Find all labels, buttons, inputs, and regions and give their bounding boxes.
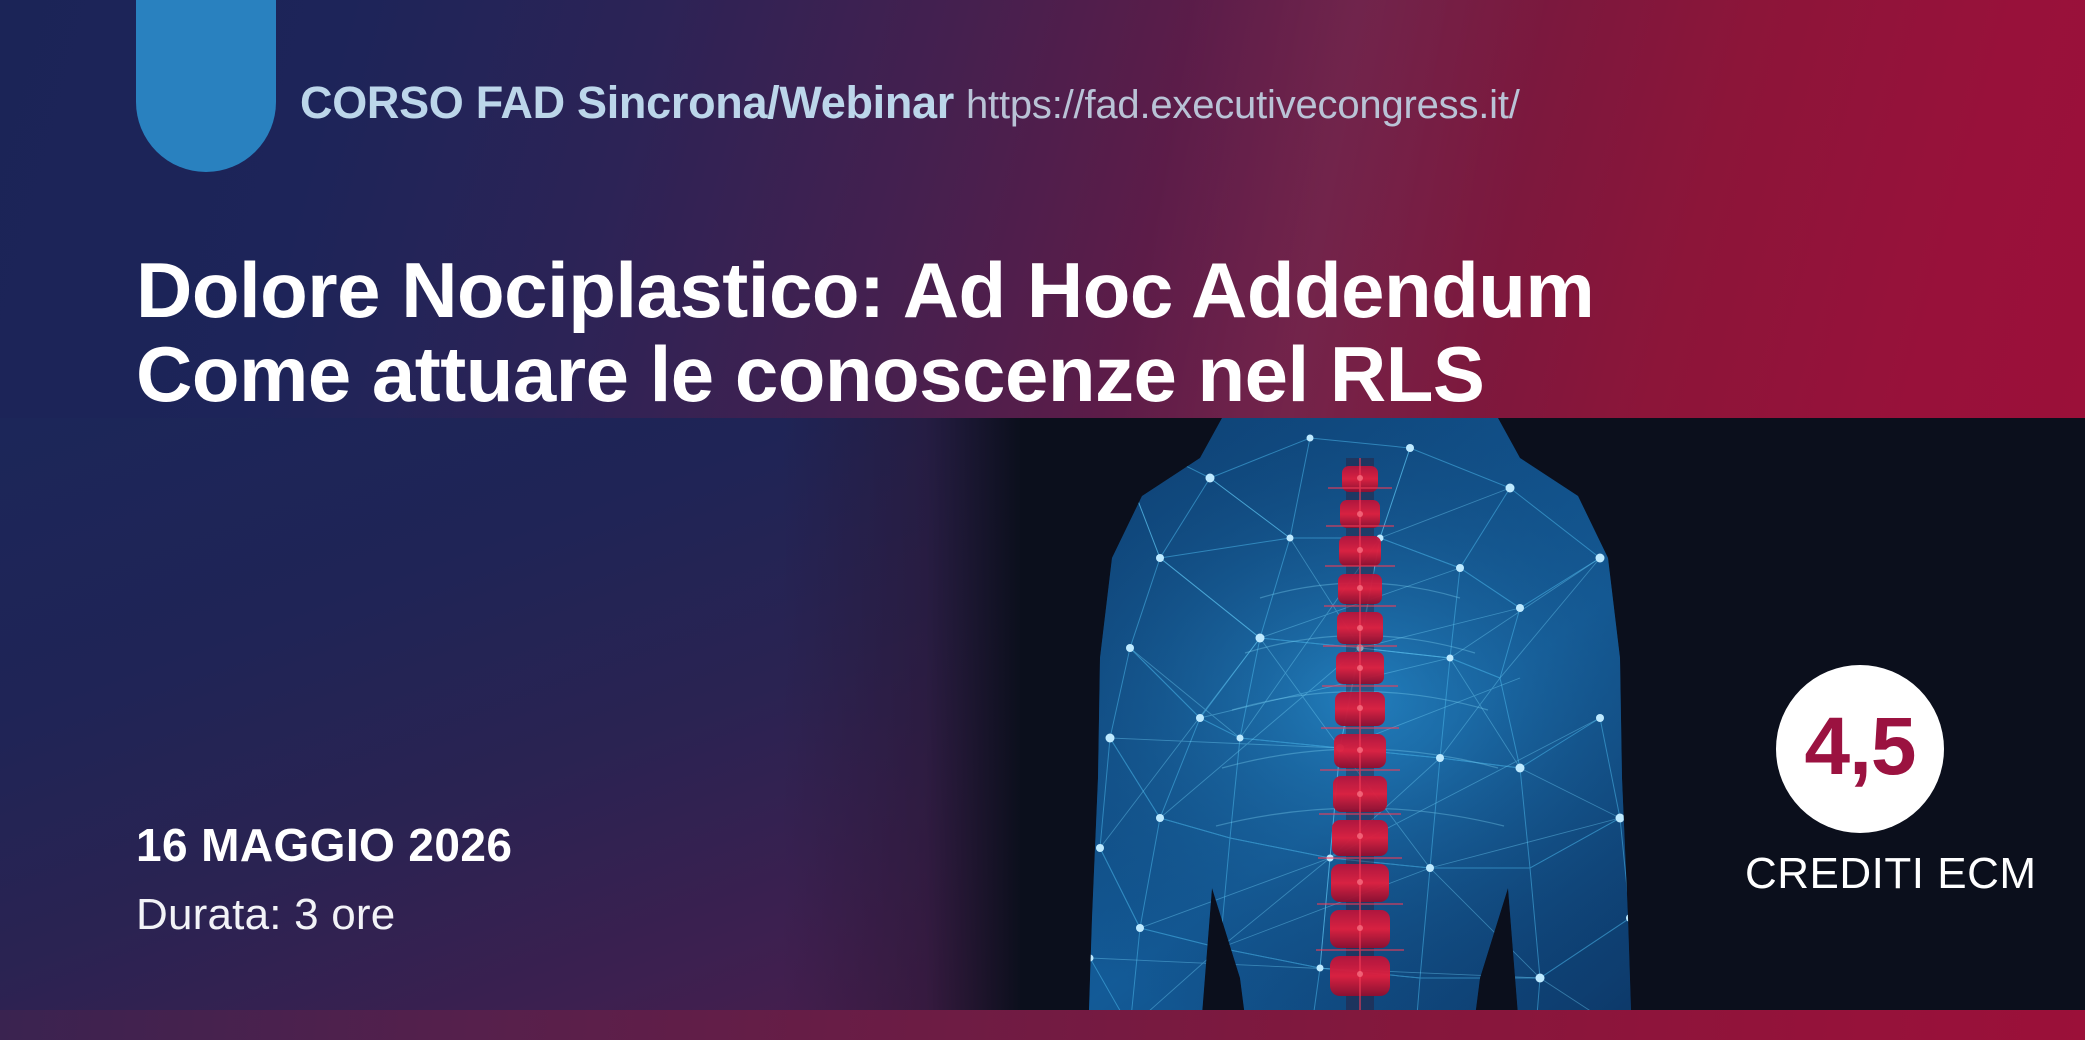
- event-date: 16 MAGGIO 2026: [136, 820, 512, 871]
- course-url-link[interactable]: https://fad.executivecongress.it/: [966, 83, 1520, 127]
- ecm-credits-label: CREDITI ECM: [1745, 849, 1975, 899]
- page-title-line-2: Come attuare le conoscenze nel RLS: [136, 332, 1696, 416]
- wireframe-torso-spine-illustration: [960, 418, 1760, 1040]
- ecm-credits-circle: 4,5: [1776, 665, 1944, 833]
- ecm-credits-badge: 4,5 CREDITI ECM: [1745, 665, 1975, 899]
- event-date-block: 16 MAGGIO 2026 Durata: 3 ore: [136, 820, 512, 939]
- page-title: Dolore Nociplastico: Ad Hoc Addendum Com…: [136, 248, 1696, 416]
- ecm-credits-value: 4,5: [1805, 706, 1916, 788]
- footer-accent-strip: [0, 1010, 2085, 1040]
- content-left-gradient: [0, 418, 1020, 1040]
- kicker-line: CORSO FAD Sincrona/Webinarhttps://fad.ex…: [300, 80, 1520, 125]
- course-type-label: CORSO FAD Sincrona/Webinar: [300, 77, 954, 128]
- event-duration: Durata: 3 ore: [136, 891, 512, 939]
- page-title-line-1: Dolore Nociplastico: Ad Hoc Addendum: [136, 248, 1696, 332]
- course-banner: CORSO FAD Sincrona/Webinarhttps://fad.ex…: [0, 0, 2085, 1040]
- blue-tab-accent: [136, 0, 276, 172]
